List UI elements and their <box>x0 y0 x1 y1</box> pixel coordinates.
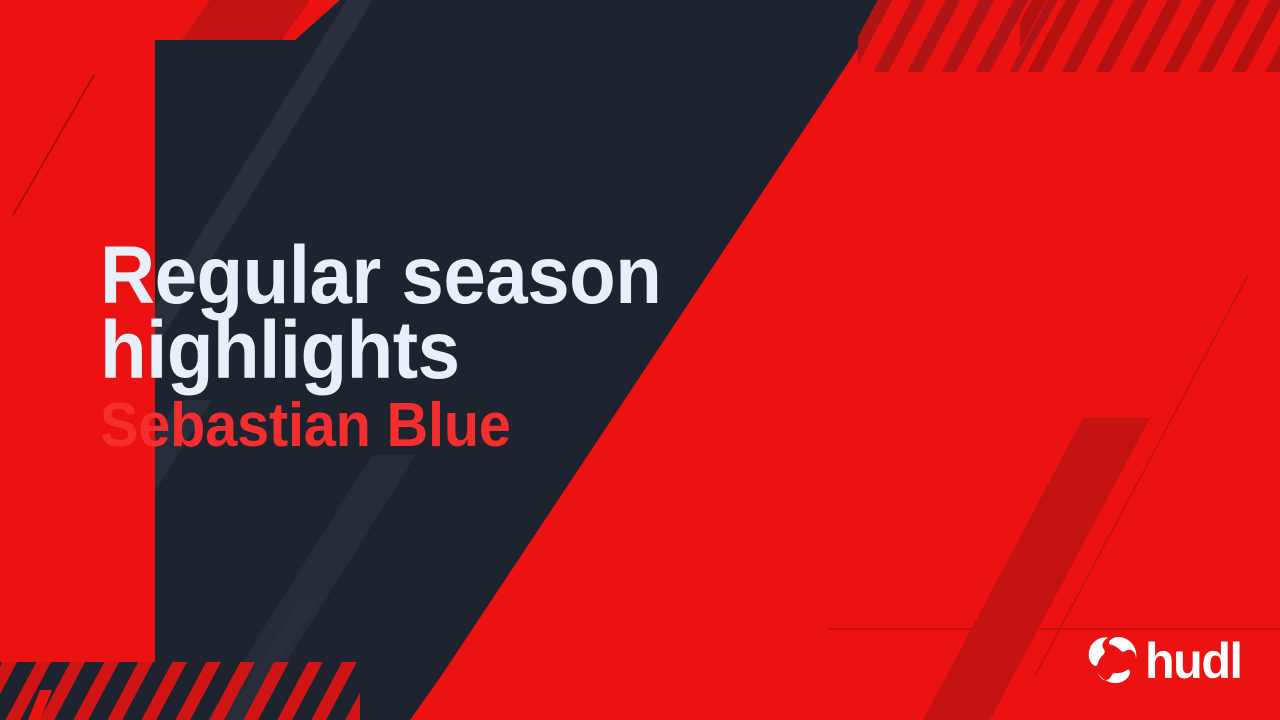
hudl-wordmark: hudl <box>1145 636 1242 686</box>
title-block: Regular season highlights Sebastian Blue <box>100 238 740 457</box>
hudl-pinwheel-icon <box>1088 636 1138 688</box>
right-horizontal-hairline <box>828 628 1280 630</box>
slide-subtitle: Sebastian Blue <box>100 395 695 457</box>
slide-title: Regular season highlights <box>100 238 695 389</box>
bottom-left-hatch <box>0 662 360 720</box>
hudl-logo: hudl <box>1088 636 1245 688</box>
top-right-hatch-on-red <box>1020 0 1280 72</box>
highlight-title-slide: Regular season highlights Sebastian Blue… <box>0 0 1280 720</box>
